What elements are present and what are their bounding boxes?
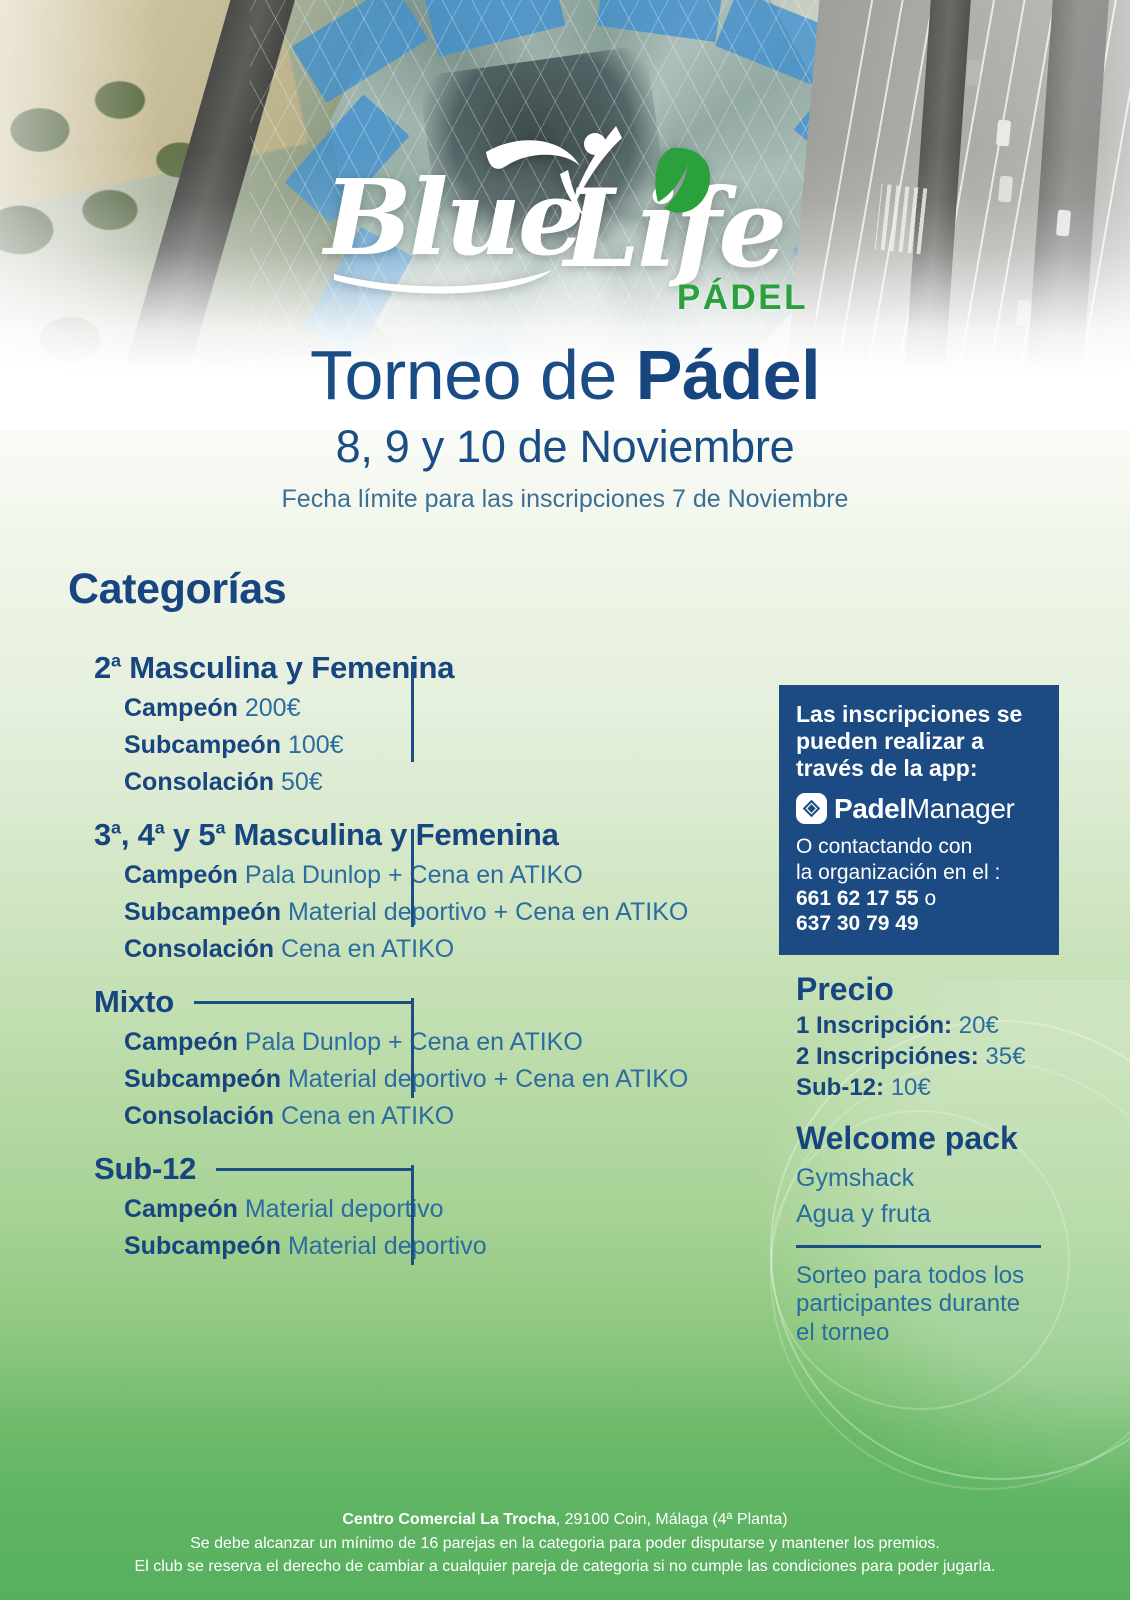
contact-phone-2[interactable]: 637 30 79 49 (796, 911, 1042, 937)
category-block: 2a Masculina y Femenina Campeón 200€ Sub… (0, 650, 780, 797)
category-connector-elbow (411, 998, 414, 1098)
contact-phone-1-row[interactable]: 661 62 17 55 o (796, 886, 1042, 912)
inscriptions-lead-line3: través de la app: (796, 755, 1042, 782)
category-title: Mixto (94, 984, 174, 1020)
welcome-pack-heading: Welcome pack (796, 1120, 1059, 1157)
prize-row: Consolación Cena en ATIKO (124, 935, 780, 964)
prize-row: Campeón Pala Dunlop + Cena en ATIKO (124, 1028, 780, 1057)
tournament-dates: 8, 9 y 10 de Noviembre (0, 421, 1130, 473)
contact-line2: la organización en el : (796, 860, 1042, 885)
prize-label: Consolación (124, 768, 274, 796)
precio-row: Sub-12: 10€ (796, 1074, 1059, 1102)
category-connector-line (216, 1168, 414, 1171)
prize-label: Subcampeón (124, 731, 281, 759)
category-block: Sub-12 Campeón Material deportivo Subcam… (0, 1151, 780, 1261)
precio-label: 2 Inscripciónes: (796, 1043, 979, 1070)
prize-label: Subcampeón (124, 1232, 281, 1260)
categories-list: 2a Masculina y Femenina Campeón 200€ Sub… (0, 650, 780, 1265)
welcome-pack-item: Gymshack (796, 1164, 1059, 1193)
padelmanager-logo[interactable]: PadelManager (796, 793, 1042, 824)
inscriptions-lead: Las inscripciones se pueden realizar a t… (796, 701, 1042, 782)
footer-condition-line-1: Se debe alcanzar un mínimo de 16 parejas… (0, 1532, 1130, 1555)
prize-label: Campeón (124, 1195, 238, 1223)
registration-deadline: Fecha límite para las inscripciones 7 de… (0, 485, 1130, 514)
categories-heading: Categorías (68, 565, 286, 614)
category-block: Mixto Campeón Pala Dunlop + Cena en ATIK… (0, 984, 780, 1131)
category-title: Sub-12 (94, 1151, 196, 1187)
prize-value: 200€ (245, 694, 301, 722)
category-title: 2a Masculina y Femenina (94, 650, 454, 686)
contact-phone-1[interactable]: 661 62 17 55 (796, 887, 919, 910)
prize-label: Campeón (124, 694, 238, 722)
padelmanager-name: PadelManager (834, 795, 1014, 823)
precio-row: 2 Inscripciónes: 35€ (796, 1043, 1059, 1071)
sorteo-note: Sorteo para todos los participantes dura… (796, 1262, 1044, 1347)
svg-text:Blue: Blue (321, 156, 581, 279)
precio-row: 1 Inscripción: 20€ (796, 1012, 1059, 1040)
prize-value: Cena en ATIKO (281, 935, 454, 963)
contact-line1: O contactando con (796, 834, 1042, 859)
category-title: 3a, 4a y 5a Masculina y Femenina (94, 817, 559, 853)
prize-value: Material deportivo + Cena en ATIKO (288, 898, 688, 926)
footer-venue-line: Centro Comercial La Trocha, 29100 Coin, … (0, 1508, 1130, 1531)
padelmanager-name-bold: Padel (834, 793, 907, 824)
prize-row: Consolación Cena en ATIKO (124, 1102, 780, 1131)
prize-row: Subcampeón Material deportivo (124, 1232, 780, 1261)
prize-label: Consolación (124, 1102, 274, 1130)
prize-row: Campeón Pala Dunlop + Cena en ATIKO (124, 861, 780, 890)
precio-value: 35€ (985, 1043, 1025, 1070)
prize-row: Campeón 200€ (124, 694, 780, 723)
footer: Centro Comercial La Trocha, 29100 Coin, … (0, 1508, 1130, 1578)
precio-label: Sub-12: (796, 1074, 884, 1101)
prize-row: Consolación 50€ (124, 768, 780, 797)
title-light-part: Torneo de (310, 336, 636, 414)
logo-padel-label: PÁDEL (677, 278, 808, 318)
category-block: 3a, 4a y 5a Masculina y Femenina Campeón… (0, 817, 780, 964)
headline-block: Torneo de Pádel 8, 9 y 10 de Noviembre F… (0, 340, 1130, 514)
prize-row: Subcampeón 100€ (124, 731, 780, 760)
prize-label: Consolación (124, 935, 274, 963)
prize-value: Cena en ATIKO (281, 1102, 454, 1130)
title-bold-part: Pádel (636, 336, 820, 414)
padelmanager-diamond-icon (796, 793, 827, 824)
prize-value: Material deportivo (288, 1232, 487, 1260)
prize-row: Subcampeón Material deportivo + Cena en … (124, 898, 780, 927)
prize-value: 50€ (281, 768, 323, 796)
poster-root: Blue Life PÁDEL Torneo de Pádel 8, 9 y 1… (0, 0, 1130, 1600)
category-connector-elbow (411, 829, 414, 927)
prize-label: Campeón (124, 1028, 238, 1056)
precio-label: 1 Inscripción: (796, 1012, 952, 1039)
right-column-divider (796, 1245, 1041, 1248)
right-column: Las inscripciones se pueden realizar a t… (779, 685, 1059, 1347)
footer-condition-line-2: El club se reserva el derecho de cambiar… (0, 1555, 1130, 1578)
prize-label: Subcampeón (124, 898, 281, 926)
prize-value: 100€ (288, 731, 344, 759)
padelmanager-name-light: Manager (907, 793, 1015, 824)
page-title: Torneo de Pádel (0, 340, 1130, 411)
category-connector-elbow (411, 662, 414, 762)
prize-label: Campeón (124, 861, 238, 889)
prize-row: Subcampeón Material deportivo + Cena en … (124, 1065, 780, 1094)
precio-value: 10€ (891, 1074, 931, 1101)
precio-heading: Precio (796, 971, 1059, 1008)
contact-phones[interactable]: 661 62 17 55 o 637 30 79 49 (796, 886, 1042, 937)
inscriptions-contact: O contactando con la organización en el … (796, 834, 1042, 884)
phone-separator: o (919, 887, 937, 910)
welcome-pack-item: Agua y fruta (796, 1200, 1059, 1229)
category-connector-line (194, 1001, 414, 1004)
prize-label: Subcampeón (124, 1065, 281, 1093)
inscriptions-lead-line1: Las inscripciones se (796, 701, 1042, 728)
footer-venue-address: , 29100 Coin, Málaga (4ª Planta) (556, 1511, 788, 1528)
logo-wordmark: Blue Life (321, 156, 784, 293)
blue-life-logo: Blue Life PÁDEL (316, 104, 816, 314)
prize-row: Campeón Material deportivo (124, 1195, 780, 1224)
prize-value: Material deportivo + Cena en ATIKO (288, 1065, 688, 1093)
category-connector-elbow (411, 1165, 414, 1265)
inscriptions-box: Las inscripciones se pueden realizar a t… (779, 685, 1059, 955)
inscriptions-lead-line2: pueden realizar a (796, 728, 1042, 755)
footer-venue-name: Centro Comercial La Trocha (342, 1511, 555, 1528)
precio-value: 20€ (959, 1012, 999, 1039)
